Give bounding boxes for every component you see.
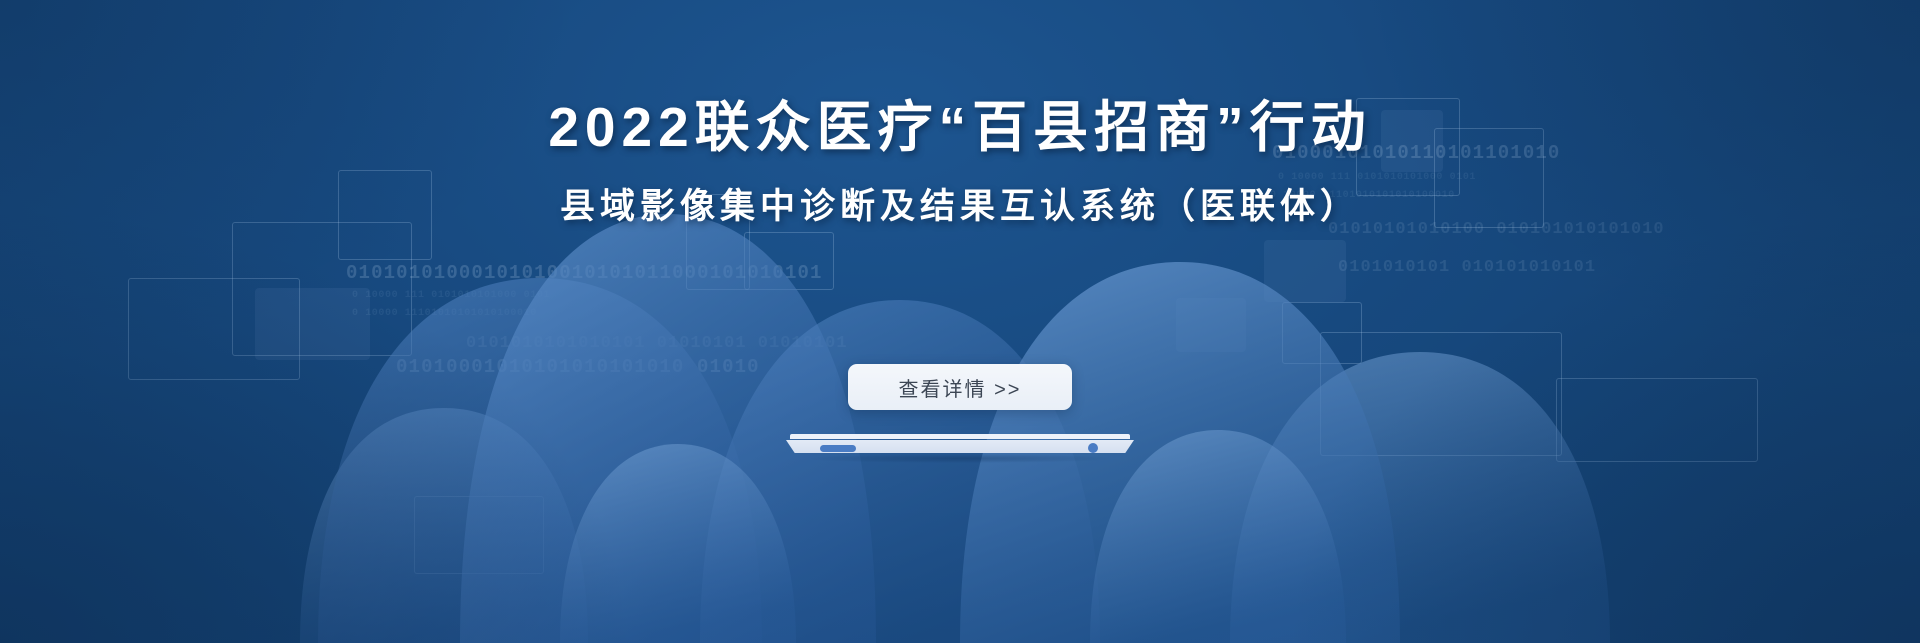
title-block: 2022联众医疗“百县招商”行动 县域影像集中诊断及结果互认系统（医联体） (0, 0, 1920, 224)
decor-fill-right-3 (1176, 298, 1246, 352)
laptop-device-graphic (786, 434, 1134, 458)
decor-fill-right-2 (1264, 240, 1346, 302)
page-title: 2022联众医疗“百县招商”行动 (0, 0, 1920, 155)
view-details-button[interactable]: 查看详情 >> (848, 364, 1072, 410)
decor-rect-bottom-left (414, 496, 544, 574)
laptop-indicator-dot-icon (1088, 443, 1098, 453)
decor-rect-right-5 (1556, 378, 1758, 462)
laptop-touchpad-icon (820, 445, 856, 452)
promo-banner: 01010101000101010010101011000101010101 0… (0, 0, 1920, 643)
binary-decor-10: 0101010101 010101010101 (1338, 258, 1596, 277)
page-subtitle: 县域影像集中诊断及结果互认系统（医联体） (0, 155, 1920, 224)
binary-decor-1: 01010101000101010010101011000101010101 (346, 262, 823, 284)
binary-decor-4: 0101010101010101 01010101 01010101 (466, 334, 848, 353)
binary-decor-5: 01010001010101010101010 01010 (396, 356, 760, 378)
laptop-shadow (807, 454, 1113, 463)
binary-decor-2: 0 10000 111 0101010101000 0101 (352, 290, 550, 301)
decor-rect-right-4 (1320, 332, 1562, 456)
laptop-lid (790, 434, 1130, 439)
binary-decor-3: 0 10000 11101010101010100010 (352, 308, 537, 319)
